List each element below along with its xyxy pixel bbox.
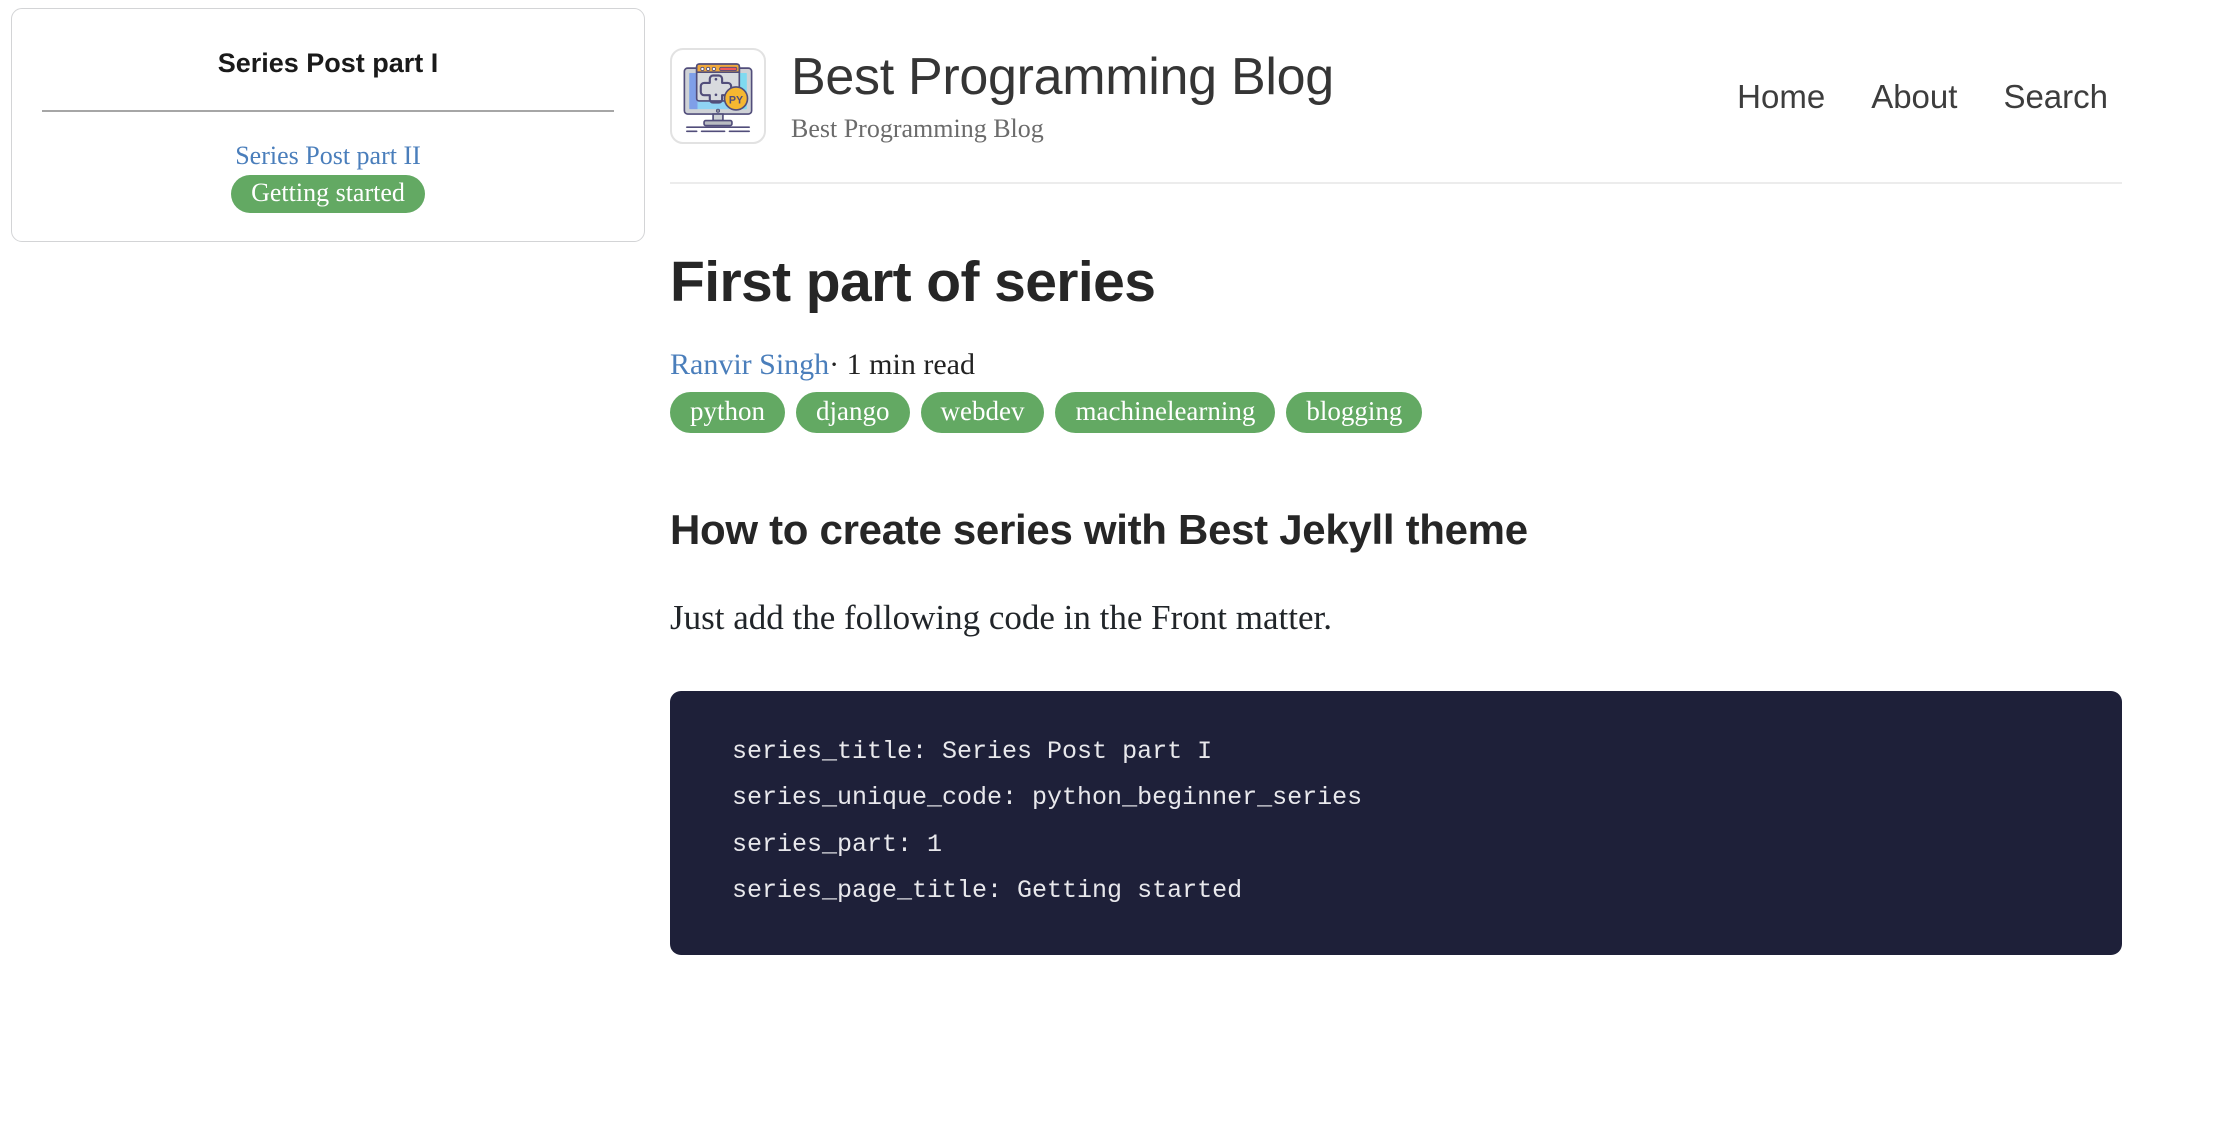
series-badge-getting-started[interactable]: Getting started [231, 175, 425, 213]
tag-machinelearning[interactable]: machinelearning [1055, 392, 1275, 433]
series-card-title: Series Post part I [42, 47, 614, 79]
post-read-time: 1 min read [847, 348, 975, 381]
series-sidebar: Series Post part I Series Post part II G… [0, 0, 660, 1126]
post-section-heading: How to create series with Best Jekyll th… [670, 505, 2120, 555]
series-link-part-ii[interactable]: Series Post part II [235, 142, 421, 171]
post-meta: Ranvir Singh· 1 min read [670, 347, 2120, 383]
tag-django[interactable]: django [796, 392, 910, 433]
post-tag-list: python django webdev machinelearning blo… [670, 392, 2120, 433]
site-title: Best Programming Blog [791, 48, 1334, 106]
nav-home[interactable]: Home [1737, 80, 1825, 113]
series-card: Series Post part I Series Post part II G… [11, 8, 645, 242]
post-paragraph: Just add the following code in the Front… [670, 595, 2120, 641]
main-column: PY Best Programming Blog [660, 0, 2232, 1126]
python-monitor-logo-icon: PY [670, 48, 766, 144]
series-badge-wrap: Getting started [42, 175, 614, 213]
brand-text: Best Programming Blog Best Programming B… [791, 48, 1334, 143]
post-article: First part of series Ranvir Singh· 1 min… [670, 184, 2120, 955]
page-root: Series Post part I Series Post part II G… [0, 0, 2232, 1126]
meta-separator: · [829, 348, 839, 381]
main-inner: PY Best Programming Blog [670, 0, 2120, 955]
site-brand[interactable]: PY Best Programming Blog [670, 48, 1334, 144]
code-block-content[interactable]: series_title: Series Post part I series_… [732, 729, 2082, 915]
tag-blogging[interactable]: blogging [1286, 392, 1422, 433]
series-card-divider [42, 110, 614, 112]
post-body: How to create series with Best Jekyll th… [670, 433, 2120, 955]
site-nav: Home About Search [1737, 80, 2120, 113]
nav-about[interactable]: About [1871, 80, 1957, 113]
series-card-links: Series Post part II Getting started [42, 142, 614, 212]
site-subtitle: Best Programming Blog [791, 113, 1334, 144]
svg-text:PY: PY [729, 94, 743, 106]
tag-webdev[interactable]: webdev [921, 392, 1045, 433]
tag-python[interactable]: python [670, 392, 785, 433]
site-header: PY Best Programming Blog [670, 0, 2120, 170]
code-block: series_title: Series Post part I series_… [670, 691, 2122, 955]
post-title: First part of series [670, 250, 2120, 316]
nav-search[interactable]: Search [2003, 80, 2108, 113]
post-author-link[interactable]: Ranvir Singh [670, 348, 829, 381]
